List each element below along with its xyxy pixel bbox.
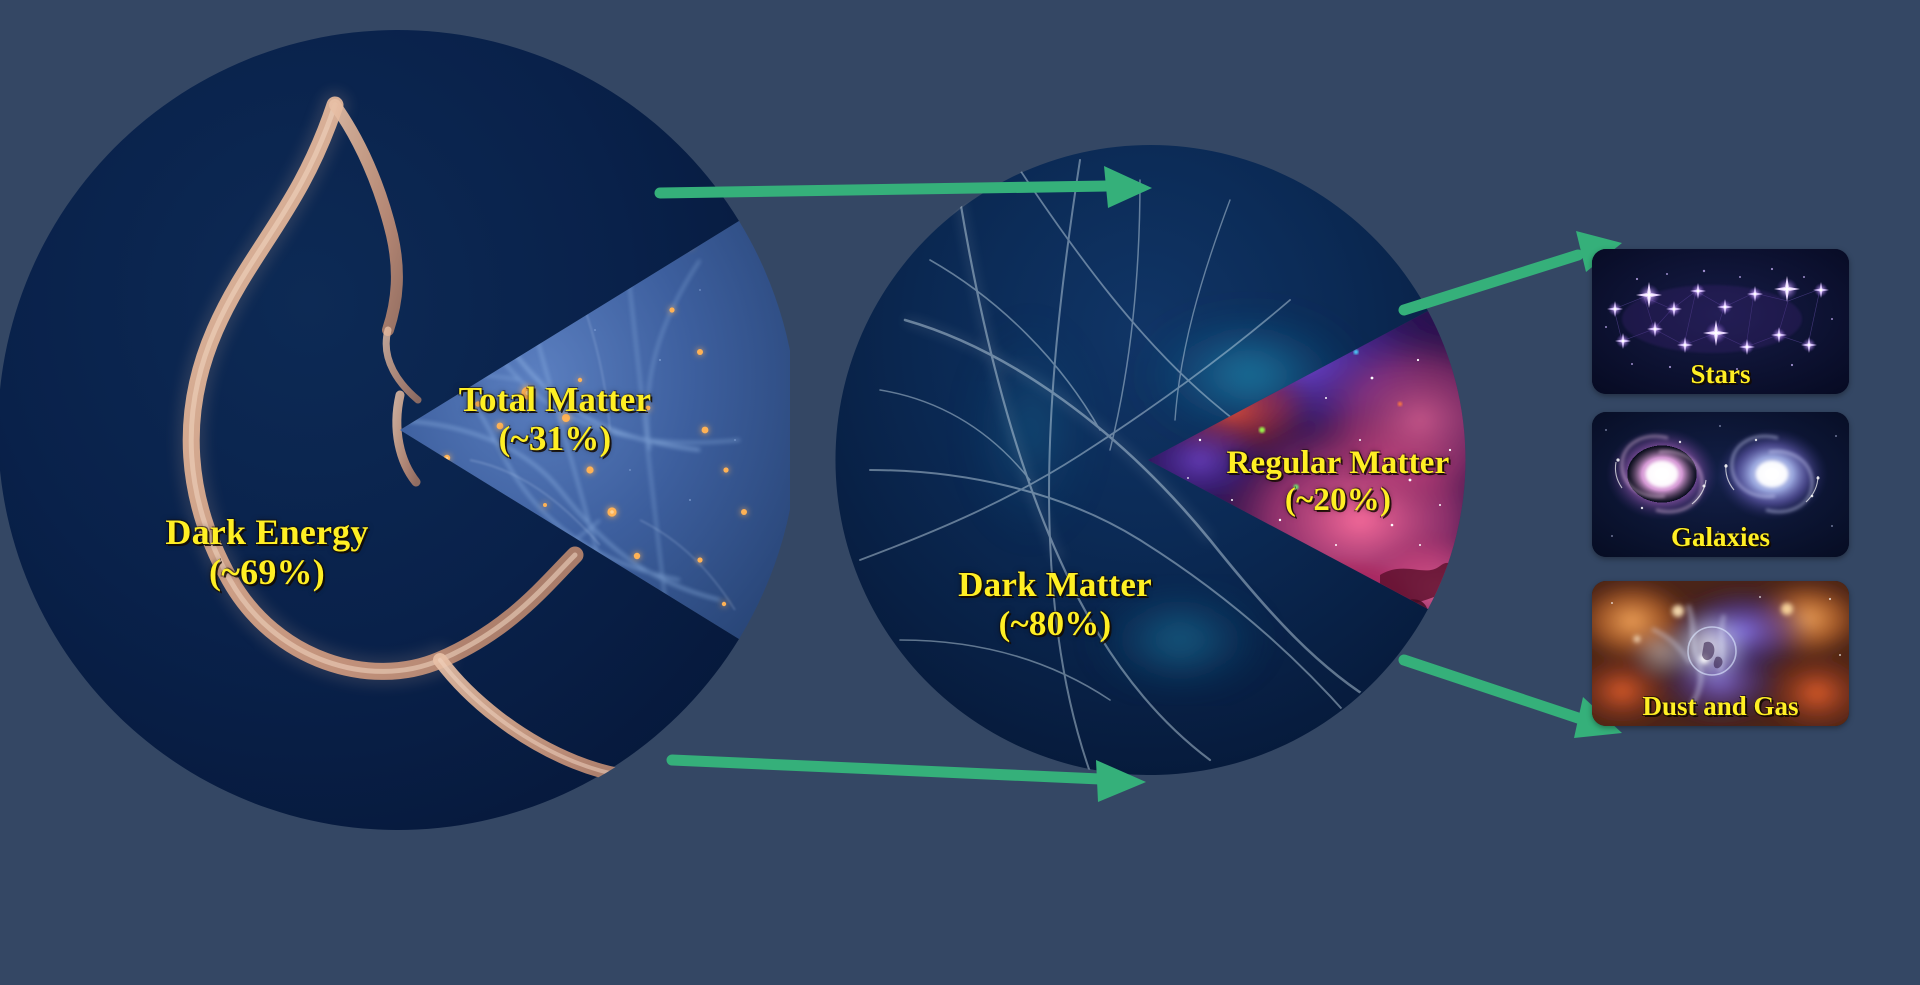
thumbnail-dust-and-gas[interactable]: Dust and Gas [1592, 581, 1849, 726]
arrow-regular-matter-to-stars [1404, 231, 1622, 310]
arrow-total-matter-to-matter-pie-bottom [672, 760, 1146, 802]
thumbnail-stars[interactable]: Stars [1592, 249, 1849, 394]
thumbnail-stars-caption: Stars [1592, 359, 1849, 390]
thumbnail-dust-and-gas-caption: Dust and Gas [1592, 691, 1849, 722]
infographic-canvas: Dark Energy (~69%) Total Matter (~31%) D… [0, 0, 1920, 985]
thumbnail-galaxies-caption: Galaxies [1592, 522, 1849, 553]
thumbnail-galaxies[interactable]: Galaxies [1592, 412, 1849, 557]
arrow-regular-matter-to-dust-and-gas [1404, 660, 1622, 738]
universe-pie[interactable] [0, 30, 790, 830]
matter-pie[interactable] [835, 145, 1530, 775]
